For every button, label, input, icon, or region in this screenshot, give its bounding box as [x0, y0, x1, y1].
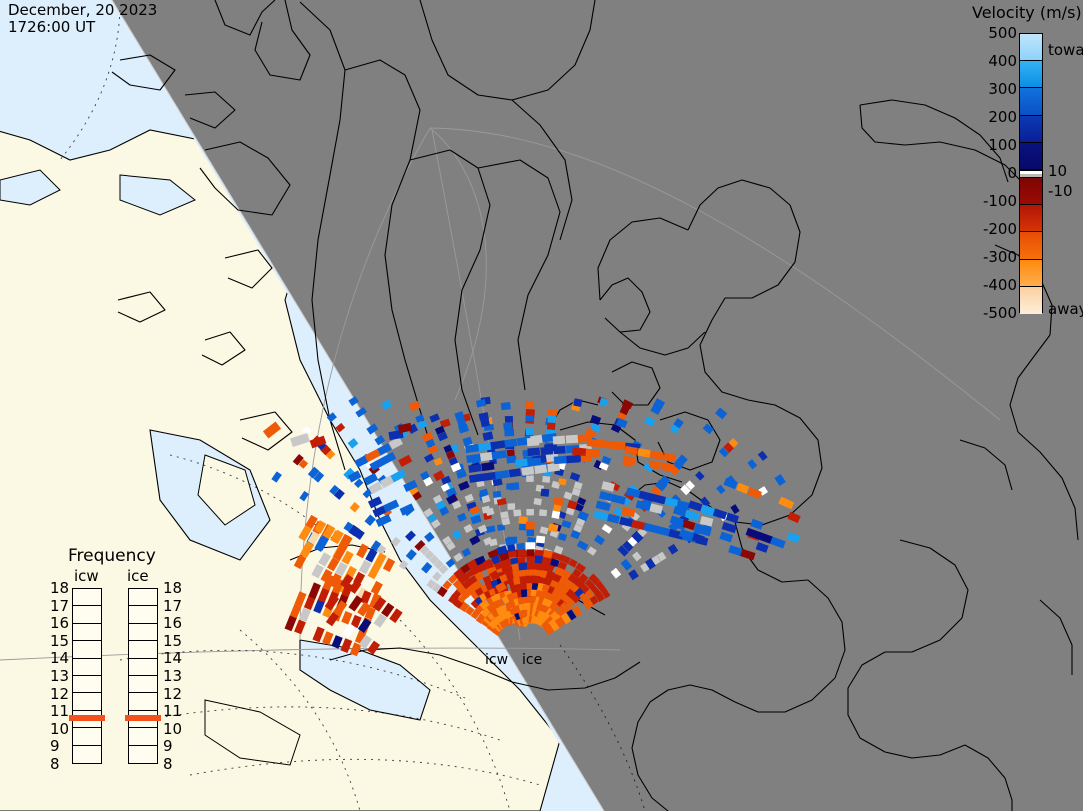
- colorbar-tick-label: 100: [988, 136, 1017, 154]
- frequency-tick-label: 11: [163, 702, 182, 720]
- frequency-tick-label: 15: [50, 632, 69, 650]
- colorbar-tick-label: -300: [983, 248, 1017, 266]
- frequency-bar-segment: [129, 606, 157, 623]
- velocity-cell: [519, 523, 527, 530]
- frequency-tick-label: 8: [50, 755, 60, 773]
- velocity-cell: [547, 415, 556, 423]
- velocity-cell: [504, 429, 514, 436]
- frequency-bar-ice: [128, 588, 158, 764]
- frequency-bar-segment: [73, 589, 101, 606]
- velocity-cell: [526, 428, 534, 435]
- velocity-cell: [525, 401, 534, 409]
- frequency-tick-label: 18: [163, 579, 182, 597]
- colorbar-tick-label: 500: [988, 24, 1017, 42]
- velocity-cell: [573, 398, 582, 407]
- velocity-cell: [547, 422, 556, 430]
- colorbar-tick-label: 400: [988, 52, 1017, 70]
- colorbar-band: [1020, 143, 1042, 170]
- frequency-bar-segment: [73, 659, 101, 676]
- frequency-tick-label: 10: [163, 720, 182, 738]
- velocity-cell: [612, 441, 626, 450]
- colorbar-zero-band: [1020, 170, 1042, 178]
- velocity-cell: [526, 522, 535, 530]
- velocity-cell: [547, 409, 557, 416]
- superdarn-fan-plot: December, 20 20231726:00 UT Velocity (m/…: [0, 0, 1083, 811]
- frequency-bar-icw: [72, 588, 102, 764]
- colorbar-gradient: [1019, 33, 1043, 313]
- velocity-cell: [554, 456, 567, 464]
- radar-site-label-icw: icw: [485, 652, 508, 668]
- velocity-cell: [503, 422, 513, 430]
- velocity-cell: [526, 415, 534, 421]
- frequency-tick-label: 8: [163, 755, 173, 773]
- colorbar-band: [1020, 205, 1042, 232]
- velocity-cell: [480, 452, 493, 462]
- velocity-cell: [518, 562, 527, 570]
- velocity-cell: [527, 448, 540, 456]
- velocity-cell: [572, 447, 587, 456]
- velocity-cell: [511, 564, 519, 572]
- timestamp-block: December, 20 20231726:00 UT: [8, 2, 157, 36]
- velocity-cell: [540, 447, 553, 455]
- velocity-cell: [505, 416, 513, 423]
- frequency-tick-label: 17: [163, 597, 182, 615]
- frequency-bar-segment: [73, 676, 101, 693]
- colorbar-zero-upper-label: 10: [1048, 162, 1067, 180]
- velocity-cell: [536, 536, 545, 544]
- colorbar-tick-label: 0: [1007, 164, 1017, 182]
- colorbar-band: [1020, 88, 1042, 115]
- frequency-marker-icw: [69, 715, 105, 721]
- colorbar-zero-lower-label: -10: [1048, 182, 1073, 200]
- velocity-cell: [534, 464, 547, 474]
- velocity-cell: [501, 402, 511, 410]
- frequency-legend: Frequency icw ice 18171615141312111098 1…: [50, 540, 210, 790]
- frequency-bar-segment: [73, 606, 101, 623]
- colorbar-tick-label: 300: [988, 80, 1017, 98]
- velocity-cell: [587, 439, 601, 448]
- colorbar-band: [1020, 287, 1042, 314]
- colorbar-band: [1020, 116, 1042, 143]
- velocity-cell: [541, 489, 550, 497]
- velocity-cell: [507, 449, 515, 456]
- velocity-cell: [507, 503, 515, 510]
- velocity-cell: [547, 463, 560, 473]
- colorbar-band: [1020, 34, 1042, 61]
- velocity-cell: [509, 468, 521, 477]
- colorbar-toward-label: toward: [1048, 41, 1083, 59]
- frequency-bar-segment: [73, 693, 101, 710]
- frequency-column-header-ice: ice: [127, 567, 149, 585]
- colorbar-band: [1020, 260, 1042, 287]
- frequency-bar-segment: [129, 728, 157, 745]
- velocity-cell: [517, 549, 525, 557]
- frequency-bar-segment: [73, 728, 101, 745]
- velocity-cell: [527, 556, 535, 562]
- velocity-cell: [534, 556, 542, 564]
- colorbar-band: [1020, 232, 1042, 259]
- frequency-bar-segment: [73, 624, 101, 641]
- radar-site-label-ice: ice: [522, 652, 542, 668]
- frequency-bar-segment: [129, 589, 157, 606]
- velocity-cell: [585, 449, 599, 458]
- velocity-cell: [539, 509, 547, 516]
- frequency-tick-label: 17: [50, 597, 69, 615]
- velocity-cell: [533, 498, 541, 505]
- frequency-bar-segment: [129, 676, 157, 693]
- frequency-tick-label: 13: [163, 667, 182, 685]
- colorbar-tick-label: 200: [988, 108, 1017, 126]
- colorbar-away-label: away: [1048, 300, 1083, 318]
- velocity-colorbar: Velocity (m/s) 5004003002001000-100-200-…: [940, 0, 1083, 330]
- velocity-cell: [566, 435, 579, 444]
- frequency-tick-label: 13: [50, 667, 69, 685]
- velocity-cell: [509, 482, 519, 490]
- velocity-cell: [526, 542, 536, 549]
- frequency-bar-segment: [129, 693, 157, 710]
- velocity-cell: [527, 549, 534, 556]
- velocity-cell: [515, 459, 527, 467]
- frequency-bar-segment: [73, 641, 101, 658]
- velocity-cell: [517, 543, 525, 550]
- velocity-cell: [526, 475, 534, 481]
- velocity-cell: [534, 570, 542, 577]
- frequency-tick-label: 14: [163, 649, 182, 667]
- frequency-tick-label: 16: [163, 614, 182, 632]
- frequency-tick-label: 18: [50, 579, 69, 597]
- velocity-cell: [521, 466, 534, 476]
- frequency-tick-label: 9: [50, 737, 60, 755]
- velocity-cell: [542, 476, 550, 483]
- frequency-tick-label: 14: [50, 649, 69, 667]
- frequency-bar-segment: [129, 659, 157, 676]
- velocity-cell: [513, 509, 521, 516]
- timestamp-time: 1726:00 UT: [8, 18, 95, 36]
- frequency-bar-segment: [129, 746, 157, 763]
- frequency-legend-title: Frequency: [68, 546, 156, 566]
- velocity-cell: [526, 570, 534, 576]
- frequency-marker-ice: [125, 715, 161, 721]
- colorbar-title: Velocity (m/s): [972, 3, 1082, 22]
- frequency-tick-label: 16: [50, 614, 69, 632]
- timestamp-date: December, 20 2023: [8, 1, 157, 19]
- frequency-bar-segment: [129, 624, 157, 641]
- frequency-tick-label: 12: [50, 685, 69, 703]
- velocity-cell: [527, 437, 540, 446]
- colorbar-tick-label: -100: [983, 192, 1017, 210]
- frequency-column-header-icw: icw: [74, 567, 99, 585]
- colorbar-tick-label: -200: [983, 220, 1017, 238]
- velocity-cell: [566, 455, 580, 463]
- frequency-tick-label: 12: [163, 685, 182, 703]
- velocity-cell: [599, 440, 615, 449]
- velocity-cell: [527, 529, 535, 536]
- colorbar-tick-label: -400: [983, 276, 1017, 294]
- frequency-tick-label: 9: [163, 737, 173, 755]
- velocity-cell: [526, 509, 534, 515]
- frequency-bar-segment: [129, 641, 157, 658]
- velocity-cell: [528, 458, 542, 466]
- frequency-bar-segment: [73, 746, 101, 763]
- frequency-tick-label: 11: [50, 702, 69, 720]
- frequency-tick-label: 10: [50, 720, 69, 738]
- frequency-tick-label: 15: [163, 632, 182, 650]
- velocity-cell: [493, 491, 502, 498]
- velocity-cell: [554, 446, 566, 454]
- velocity-cell: [534, 550, 544, 557]
- colorbar-band: [1020, 61, 1042, 88]
- colorbar-band: [1020, 178, 1042, 205]
- velocity-cell: [506, 456, 516, 464]
- colorbar-tick-label: -500: [983, 304, 1017, 322]
- velocity-cell: [553, 436, 566, 445]
